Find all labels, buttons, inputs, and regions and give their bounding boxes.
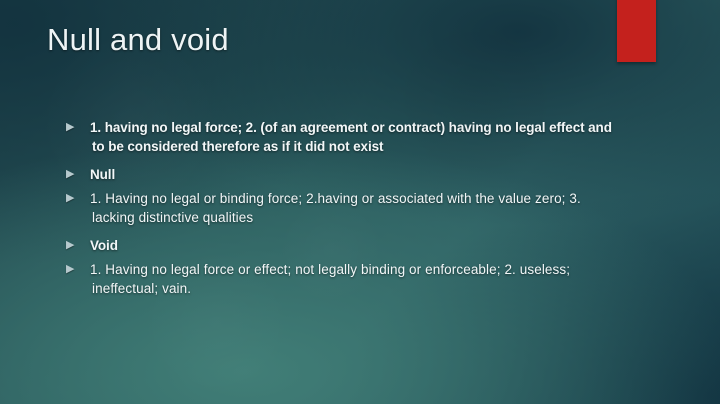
triangle-bullet-icon: ▶ [66, 118, 90, 133]
presentation-slide: Null and void ▶ 1. having no legal force… [0, 0, 720, 404]
list-item: ▶ 1. having no legal force; 2. (of an ag… [66, 118, 626, 156]
list-item-text: Null [90, 165, 626, 184]
triangle-bullet-icon: ▶ [66, 260, 90, 275]
triangle-bullet-icon: ▶ [66, 236, 90, 251]
list-item-text: 1. having no legal force; 2. (of an agre… [90, 118, 626, 156]
triangle-bullet-icon: ▶ [66, 189, 90, 204]
list-item-text: Void [90, 236, 626, 255]
accent-bar-decoration [617, 0, 656, 62]
list-item: ▶ Void [66, 236, 626, 255]
list-item: ▶ Null [66, 165, 626, 184]
slide-title: Null and void [47, 22, 229, 58]
list-item-text: 1. Having no legal or binding force; 2.h… [90, 189, 612, 227]
list-item: ▶ 1. Having no legal or binding force; 2… [66, 189, 626, 227]
triangle-bullet-icon: ▶ [66, 165, 90, 180]
slide-body: ▶ 1. having no legal force; 2. (of an ag… [66, 118, 626, 304]
list-item: ▶ 1. Having no legal force or effect; no… [66, 260, 626, 298]
list-item-text: 1. Having no legal force or effect; not … [90, 260, 612, 298]
